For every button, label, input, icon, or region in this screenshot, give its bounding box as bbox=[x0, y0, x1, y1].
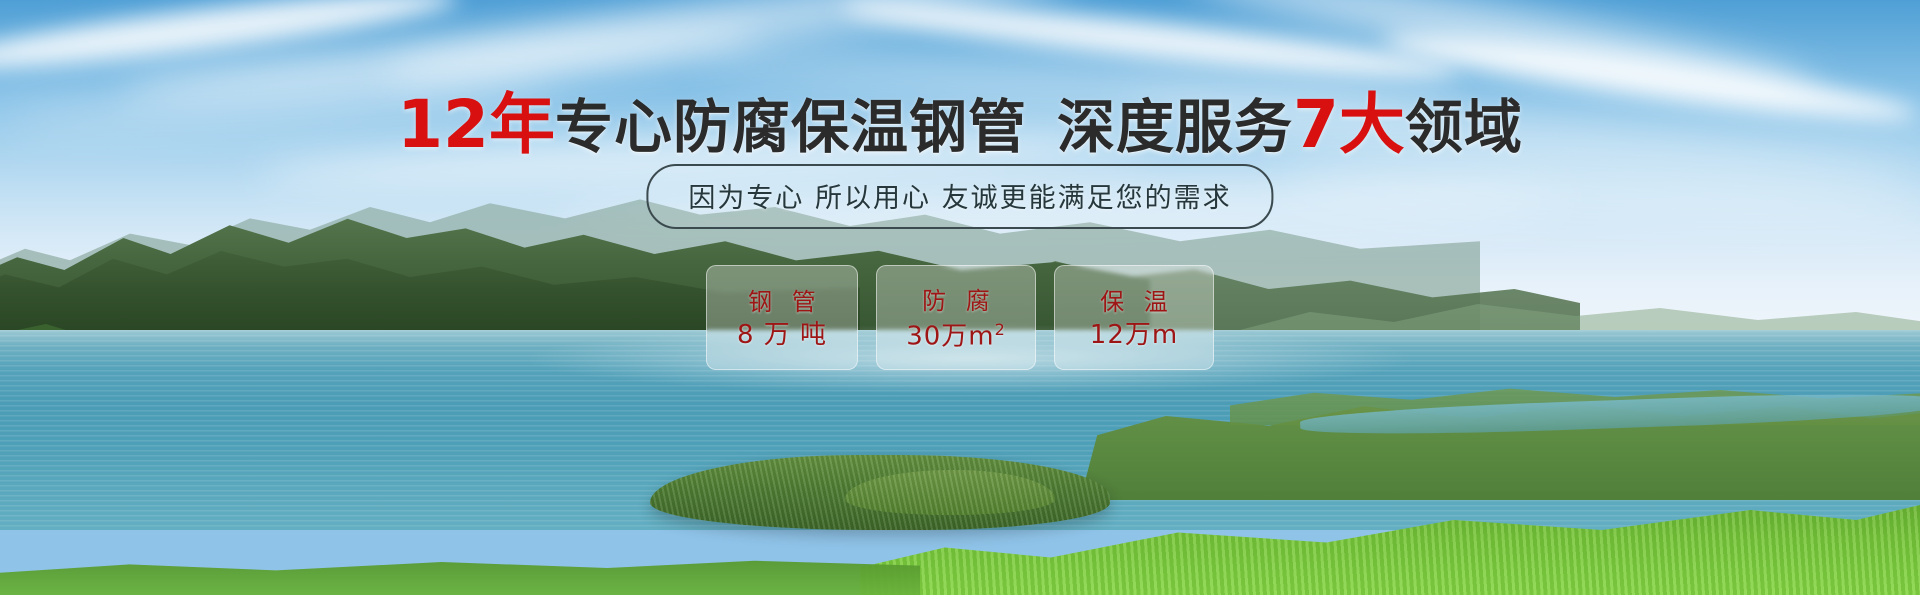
stat-card-value-text: 30万m bbox=[906, 321, 994, 351]
stat-card-group: 钢 管 8 万 吨 防 腐 30万m2 保 温 12万m bbox=[706, 265, 1214, 370]
headline-years-number: 12 bbox=[397, 86, 489, 163]
headline-segment-service: 深度服务 bbox=[1057, 93, 1293, 161]
stat-card-label: 保 温 bbox=[1094, 289, 1174, 315]
stat-card-value-text: 12万m bbox=[1090, 320, 1178, 350]
headline-fields-unit: 大 bbox=[1339, 86, 1405, 163]
stat-card-label: 防 腐 bbox=[916, 288, 996, 314]
headline-segment-specialty: 专心防腐保温钢管 bbox=[555, 93, 1027, 161]
hero-banner: 12年专心防腐保温钢管深度服务7大领域 因为专心 所以用心 友诚更能满足您的需求… bbox=[0, 0, 1920, 595]
banner-subtitle-pill: 因为专心 所以用心 友诚更能满足您的需求 bbox=[646, 164, 1273, 229]
stat-card-value-superscript: 2 bbox=[995, 320, 1006, 339]
stat-card-steel-pipe: 钢 管 8 万 吨 bbox=[706, 265, 858, 370]
stat-card-value-text: 8 万 吨 bbox=[737, 320, 827, 350]
banner-headline: 12年专心防腐保温钢管深度服务7大领域 bbox=[0, 92, 1920, 158]
stat-card-value: 30万m2 bbox=[906, 321, 1006, 351]
stat-card-insulation: 保 温 12万m bbox=[1054, 265, 1214, 370]
stat-card-value: 12万m bbox=[1090, 321, 1178, 350]
stat-card-value: 8 万 吨 bbox=[737, 321, 827, 350]
banner-overlay: 12年专心防腐保温钢管深度服务7大领域 因为专心 所以用心 友诚更能满足您的需求… bbox=[0, 0, 1920, 595]
headline-fields-number: 7 bbox=[1293, 86, 1339, 163]
stat-card-label: 钢 管 bbox=[742, 289, 822, 315]
headline-years-unit: 年 bbox=[489, 86, 555, 163]
headline-segment-fields: 领域 bbox=[1405, 93, 1523, 161]
stat-card-anticorrosion: 防 腐 30万m2 bbox=[876, 265, 1036, 370]
